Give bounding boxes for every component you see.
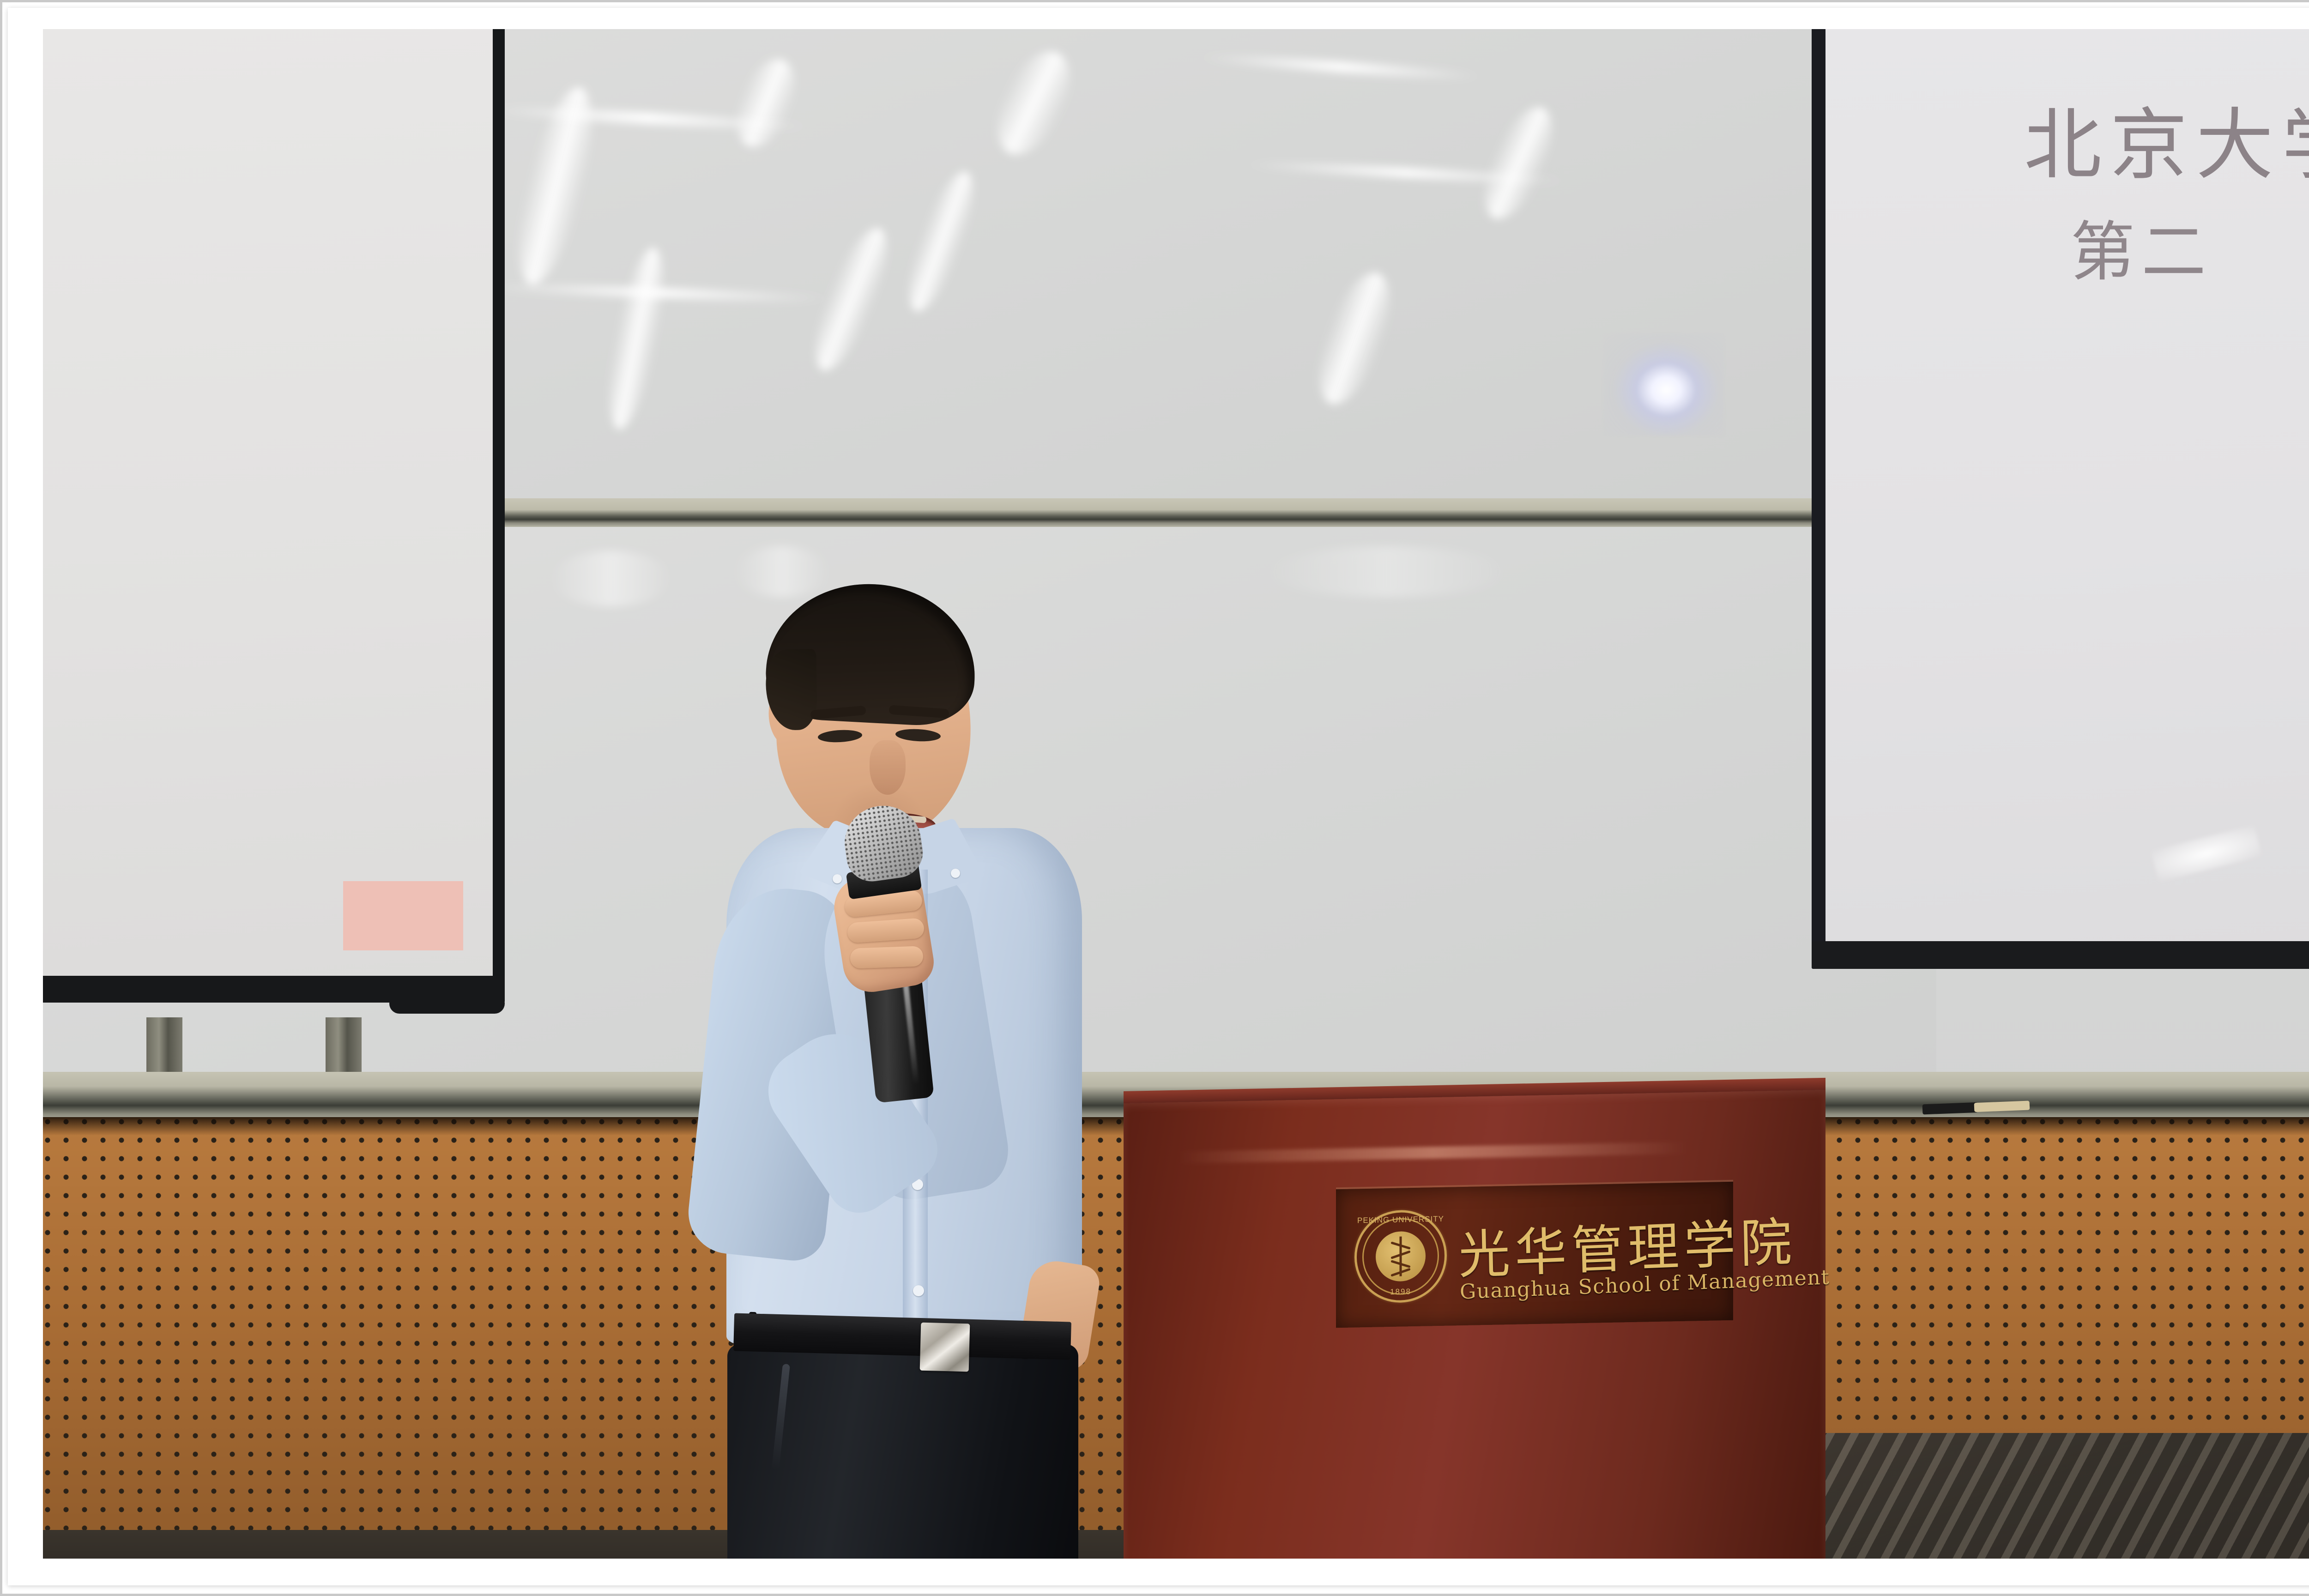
- projector-light-glare-icon: [1604, 334, 1724, 435]
- slide-title-line-2: 第二: [2070, 200, 2309, 293]
- belt-buckle: [920, 1323, 970, 1372]
- screen-left-roller: [389, 993, 505, 1014]
- nose: [870, 740, 906, 795]
- carpet-stripe-pattern: [1807, 1433, 2309, 1559]
- carpet-floor: [1807, 1433, 2309, 1559]
- shirt-collar-button: [833, 874, 842, 883]
- marker-cap: [1922, 1102, 1978, 1115]
- projection-screen-left: [43, 29, 505, 999]
- light-glare-icon: [1267, 546, 1507, 597]
- hair: [763, 579, 979, 728]
- podium-plaque: PEKING UNIVERSITY 1898 光华管理学院 Guanghua S…: [1336, 1180, 1733, 1328]
- shirt-button: [913, 1285, 924, 1296]
- finger: [850, 946, 923, 968]
- marker-barrel: [1974, 1101, 2030, 1112]
- shirt-collar-button: [951, 869, 960, 878]
- photograph: 北京大学 第二 PEKING UNIV: [43, 29, 2309, 1559]
- slide-pink-block: [343, 881, 463, 950]
- lectern-podium: PEKING UNIVERSITY 1898 光华管理学院 Guanghua S…: [1124, 1091, 1825, 1559]
- peking-university-seal-icon: PEKING UNIVERSITY 1898: [1354, 1209, 1447, 1304]
- speaker-person: [639, 551, 1216, 1559]
- slide-title-line-1: 北京大学: [2024, 82, 2309, 194]
- seal-year-text: 1898: [1357, 1287, 1445, 1298]
- screen-left-surface: [43, 29, 505, 999]
- screen-right-bottom-bar: [1812, 941, 2309, 969]
- framed-photo: 北京大学 第二 PEKING UNIV: [0, 0, 2309, 1596]
- projection-screen-right: 北京大学 第二: [1812, 29, 2309, 967]
- seal-top-text: PEKING UNIVERSITY: [1357, 1215, 1445, 1226]
